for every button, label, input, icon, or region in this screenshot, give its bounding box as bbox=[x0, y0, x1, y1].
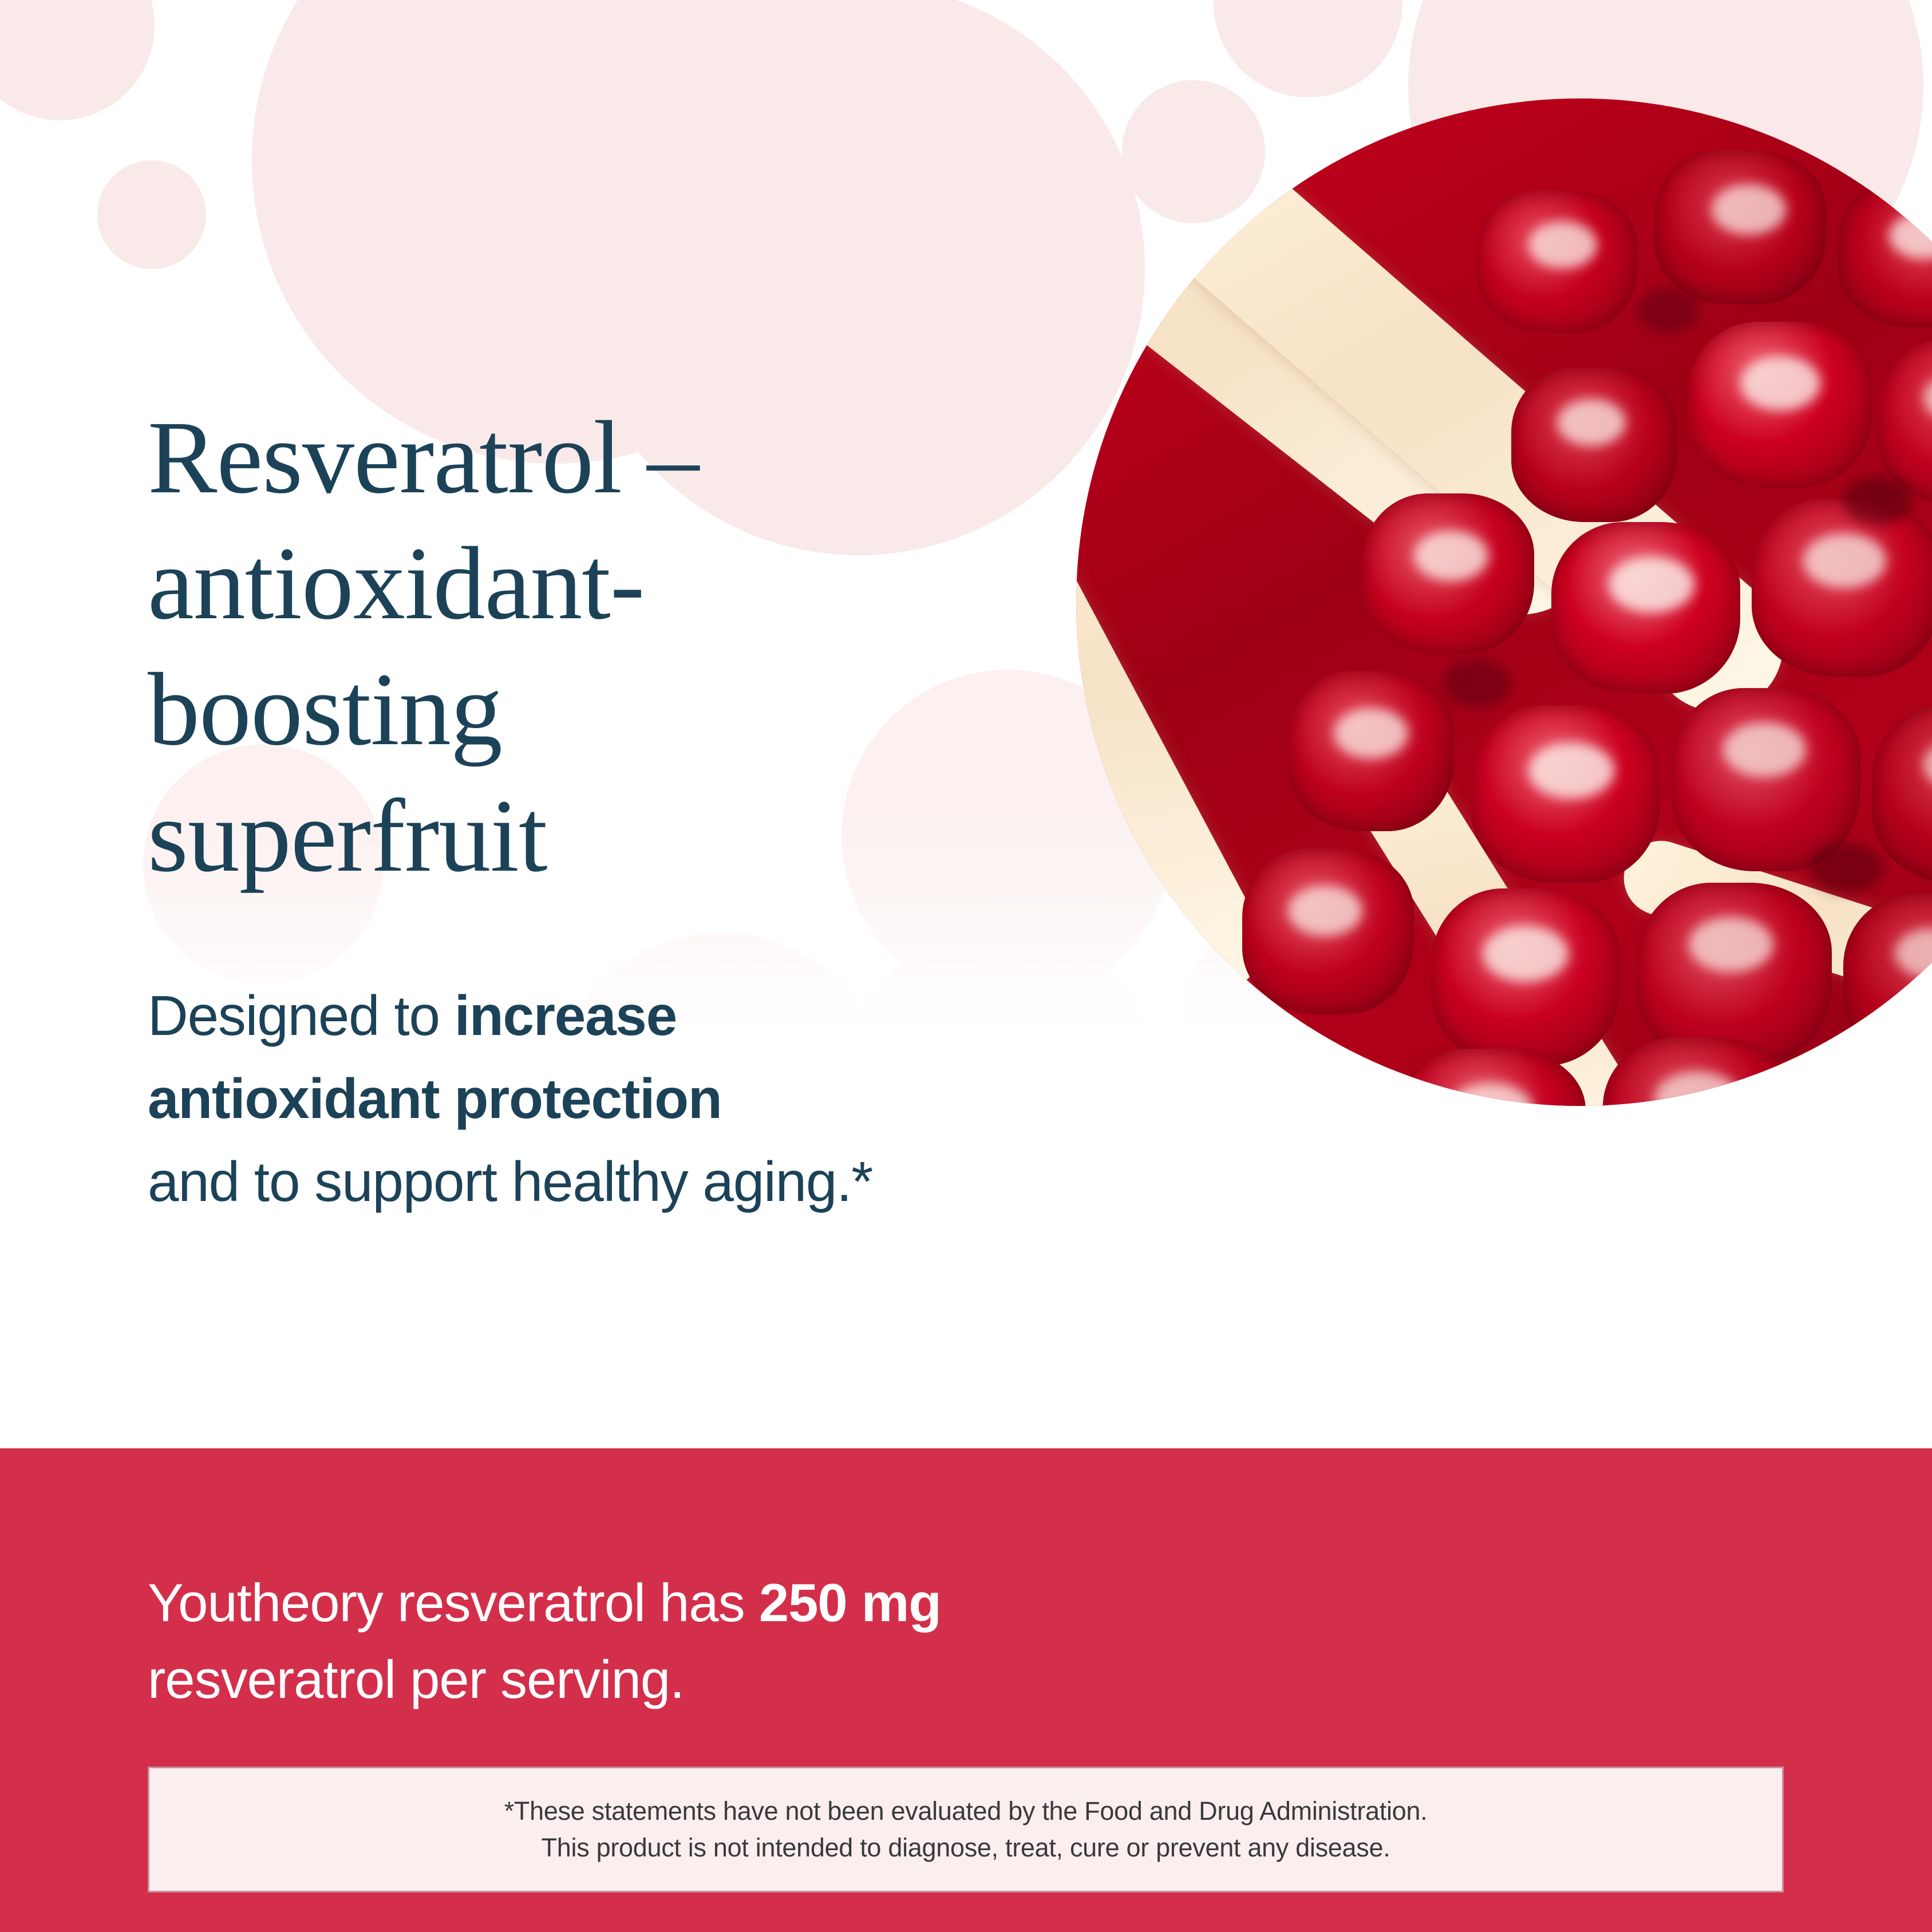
headline-line-1: Resveratrol – bbox=[148, 395, 1018, 521]
subhead-line-1: Designed to increase bbox=[148, 974, 1041, 1057]
fda-disclaimer-box: *These statements have not been evaluate… bbox=[148, 1767, 1784, 1893]
dose-lead-text: Youtheory resveratrol has bbox=[148, 1573, 759, 1633]
headline-line-4: superfruit bbox=[148, 773, 1018, 899]
headline-line-3: boosting bbox=[148, 647, 1018, 773]
disclaimer-line-2: This product is not intended to diagnose… bbox=[542, 1830, 1390, 1866]
subhead-line-2: antioxidant protection bbox=[148, 1057, 1041, 1140]
subhead-lead-text: Designed to bbox=[148, 984, 455, 1047]
subheadline: Designed to increase antioxidant protect… bbox=[148, 974, 1041, 1223]
headline-line-2: antioxidant- bbox=[148, 521, 1018, 647]
dose-line-2: resveratrol per serving. bbox=[148, 1641, 1086, 1718]
pomegranate-photo bbox=[1076, 98, 1932, 1106]
disclaimer-line-1: *These statements have not been evaluate… bbox=[504, 1793, 1428, 1830]
subhead-emphasis-increase: increase bbox=[455, 984, 677, 1047]
subhead-line-3: and to support healthy aging.* bbox=[148, 1140, 1041, 1223]
dose-callout: Youtheory resveratrol has 250 mg resvera… bbox=[148, 1564, 1086, 1718]
dose-amount: 250 mg bbox=[759, 1573, 941, 1633]
product-infographic: Resveratrol – antioxidant- boosting supe… bbox=[0, 0, 1932, 1932]
subhead-emphasis-antioxidant-protection: antioxidant protection bbox=[148, 1067, 722, 1130]
dose-line-1: Youtheory resveratrol has 250 mg bbox=[148, 1564, 1086, 1641]
page-title: Resveratrol – antioxidant- boosting supe… bbox=[148, 395, 1018, 899]
